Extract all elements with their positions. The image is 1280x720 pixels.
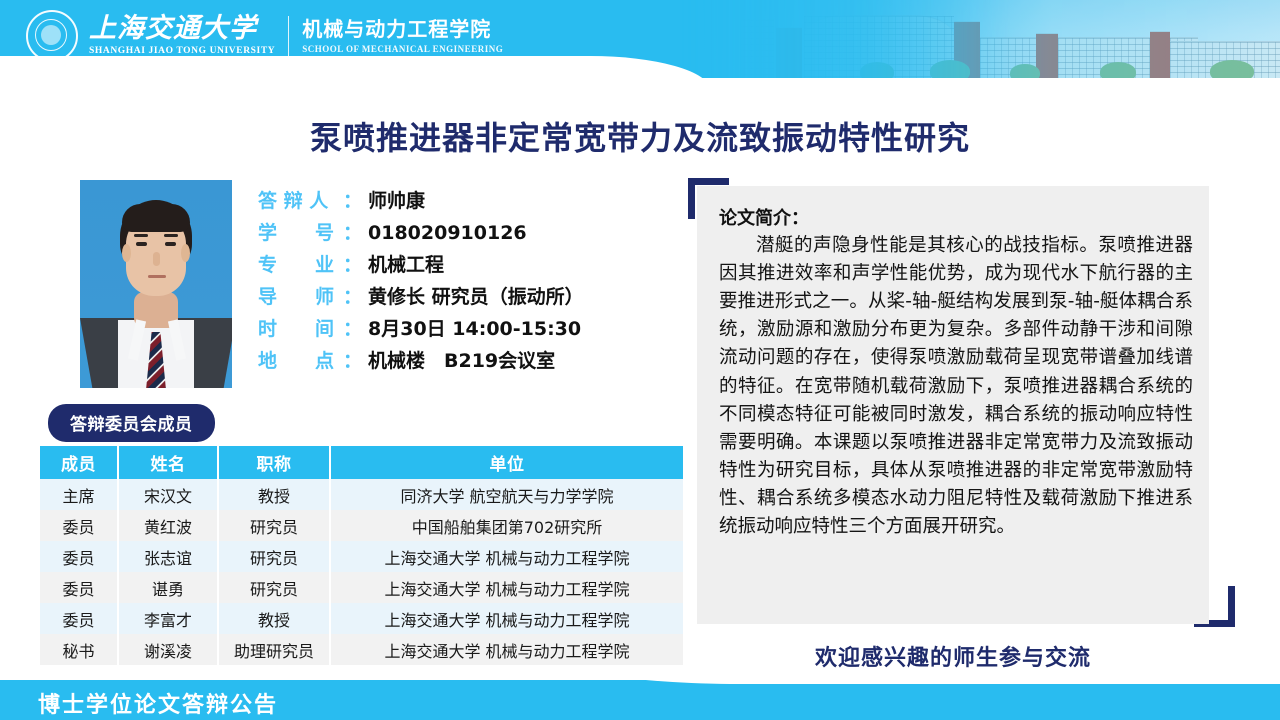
committee-table: 成员 姓名 职称 单位 主席 宋汉文 教授 同济大学 航空航天与力学学院 委员 … bbox=[40, 446, 683, 665]
info-value-advisor: 黄修长 研究员（振动所） bbox=[362, 282, 584, 309]
header-photo-tint bbox=[680, 0, 1280, 78]
table-row: 委员 李富才 教授 上海交通大学 机械与动力工程学院 bbox=[40, 603, 683, 634]
campus-building-photo bbox=[680, 0, 1280, 78]
table-row: 秘书 谢溪凌 助理研究员 上海交通大学 机械与动力工程学院 bbox=[40, 634, 683, 665]
table-row: 主席 宋汉文 教授 同济大学 航空航天与力学学院 bbox=[40, 479, 683, 510]
info-value-candidate: 师帅康 bbox=[362, 186, 425, 213]
candidate-portrait-photo bbox=[80, 180, 232, 388]
abstract-text: 潜艇的声隐身性能是其核心的战技指标。泵喷推进器因其推进效率和声学性能优势，成为现… bbox=[719, 232, 1193, 541]
column-header-name: 姓名 bbox=[118, 446, 218, 479]
cell-role: 秘书 bbox=[40, 634, 118, 665]
cell-rank: 助理研究员 bbox=[218, 634, 330, 665]
column-header-role: 成员 bbox=[40, 446, 118, 479]
table-row: 委员 谌勇 研究员 上海交通大学 机械与动力工程学院 bbox=[40, 572, 683, 603]
cell-name: 黄红波 bbox=[118, 510, 218, 541]
cell-rank: 研究员 bbox=[218, 572, 330, 603]
cell-rank: 研究员 bbox=[218, 541, 330, 572]
info-value-major: 机械工程 bbox=[362, 250, 444, 277]
info-row-candidate: 答 辩 人： 师帅康 bbox=[258, 186, 678, 218]
info-label: 地 点： bbox=[258, 346, 362, 373]
university-name-zh: 上海交通大学 bbox=[89, 15, 275, 42]
cell-affiliation: 上海交通大学 机械与动力工程学院 bbox=[330, 634, 683, 665]
cell-rank: 教授 bbox=[218, 479, 330, 510]
school-name-zh: 机械与动力工程学院 bbox=[302, 19, 503, 39]
table-header-row: 成员 姓名 职称 单位 bbox=[40, 446, 683, 479]
info-value-student-id: 018020910126 bbox=[362, 222, 527, 244]
page-title: 泵喷推进器非定常宽带力及流致振动特性研究 bbox=[0, 113, 1280, 159]
cell-name: 谢溪凌 bbox=[118, 634, 218, 665]
info-row-time: 时 间： 8月30日 14:00-15:30 bbox=[258, 314, 678, 346]
cell-role: 委员 bbox=[40, 572, 118, 603]
cell-role: 主席 bbox=[40, 479, 118, 510]
footer-title: 博士学位论文答辩公告 bbox=[38, 687, 278, 719]
cell-name: 宋汉文 bbox=[118, 479, 218, 510]
page-footer: 博士学位论文答辩公告 bbox=[0, 672, 1280, 720]
institution-logo: 上海交通大学 SHANGHAI JIAO TONG UNIVERSITY 机械与… bbox=[26, 10, 503, 62]
info-label: 答 辩 人： bbox=[258, 186, 362, 213]
info-label: 学 号： bbox=[258, 218, 362, 245]
cell-role: 委员 bbox=[40, 510, 118, 541]
info-row-location: 地 点： 机械楼 B219会议室 bbox=[258, 346, 678, 378]
school-name-block: 机械与动力工程学院 SCHOOL OF MECHANICAL ENGINEERI… bbox=[302, 19, 503, 54]
column-header-rank: 职称 bbox=[218, 446, 330, 479]
cell-role: 委员 bbox=[40, 603, 118, 634]
info-value-time: 8月30日 14:00-15:30 bbox=[362, 314, 581, 341]
info-value-location: 机械楼 B219会议室 bbox=[362, 346, 555, 373]
info-row-advisor: 导 师： 黄修长 研究员（振动所） bbox=[258, 282, 678, 314]
info-label: 时 间： bbox=[258, 314, 362, 341]
cell-rank: 研究员 bbox=[218, 510, 330, 541]
logo-divider bbox=[288, 16, 289, 56]
info-row-major: 专 业： 机械工程 bbox=[258, 250, 678, 282]
column-header-affiliation: 单位 bbox=[330, 446, 683, 479]
abstract-panel: 论文简介： 潜艇的声隐身性能是其核心的战技指标。泵喷推进器因其推进效率和声学性能… bbox=[697, 186, 1209, 624]
school-name-en: SCHOOL OF MECHANICAL ENGINEERING bbox=[302, 45, 503, 54]
university-seal-icon bbox=[26, 10, 78, 62]
cell-name: 谌勇 bbox=[118, 572, 218, 603]
table-row: 委员 张志谊 研究员 上海交通大学 机械与动力工程学院 bbox=[40, 541, 683, 572]
table-row: 委员 黄红波 研究员 中国船舶集团第702研究所 bbox=[40, 510, 683, 541]
defense-info-list: 答 辩 人： 师帅康 学 号： 018020910126 专 业： 机械工程 导… bbox=[258, 186, 678, 378]
welcome-note: 欢迎感兴趣的师生参与交流 bbox=[697, 640, 1209, 672]
cell-rank: 教授 bbox=[218, 603, 330, 634]
cell-role: 委员 bbox=[40, 541, 118, 572]
cell-affiliation: 上海交通大学 机械与动力工程学院 bbox=[330, 541, 683, 572]
committee-badge: 答辩委员会成员 bbox=[48, 404, 215, 442]
page-header: 上海交通大学 SHANGHAI JIAO TONG UNIVERSITY 机械与… bbox=[0, 0, 1280, 78]
cell-name: 李富才 bbox=[118, 603, 218, 634]
cell-affiliation: 中国船舶集团第702研究所 bbox=[330, 510, 683, 541]
abstract-heading: 论文简介： bbox=[719, 204, 1193, 230]
header-curve-decoration bbox=[0, 56, 710, 78]
info-row-student-id: 学 号： 018020910126 bbox=[258, 218, 678, 250]
cell-affiliation: 上海交通大学 机械与动力工程学院 bbox=[330, 572, 683, 603]
cell-affiliation: 同济大学 航空航天与力学学院 bbox=[330, 479, 683, 510]
cell-affiliation: 上海交通大学 机械与动力工程学院 bbox=[330, 603, 683, 634]
info-label: 专 业： bbox=[258, 250, 362, 277]
cell-name: 张志谊 bbox=[118, 541, 218, 572]
info-label: 导 师： bbox=[258, 282, 362, 309]
university-name-block: 上海交通大学 SHANGHAI JIAO TONG UNIVERSITY bbox=[89, 15, 275, 57]
